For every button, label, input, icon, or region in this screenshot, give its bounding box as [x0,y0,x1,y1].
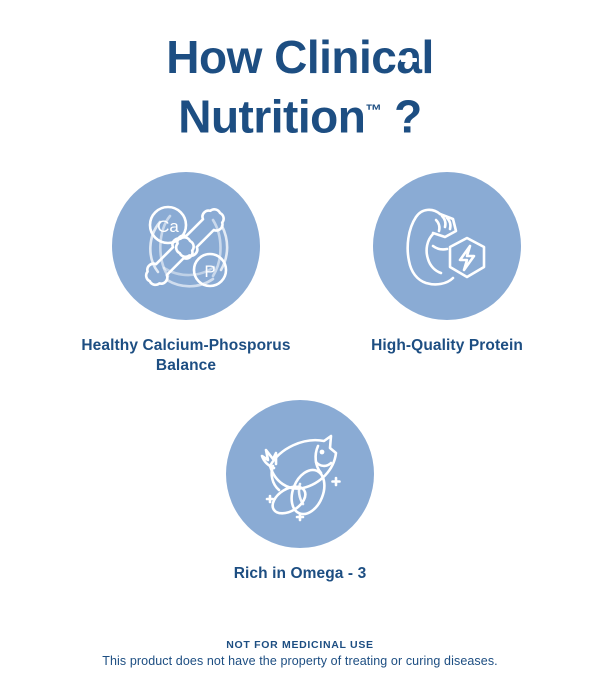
feature-label-calcium-phosphorus: Healthy Calcium-Phosporus Balance [56,336,316,376]
title-line-2: Nutrition™ ? [0,84,600,143]
footer-disclaimer: NOT FOR MEDICINAL USE This product does … [0,638,600,670]
title-line-1-text-after-cross: l [421,31,433,83]
title-line-2-text: Nutrition [178,90,365,142]
svg-text:Ca: Ca [157,217,179,236]
page-title: How Clinical Nutrition™ ? [0,30,600,143]
title-question-mark: ? [382,90,422,142]
fish-omega-capsule-icon [226,400,374,548]
footer-disclaimer-title: NOT FOR MEDICINAL USE [0,638,600,652]
medical-cross-letter-glyph: a [396,31,421,83]
trademark-symbol: ™ [365,101,382,120]
svg-text:P: P [204,262,215,281]
title-line-1-text-before-cross: How Clinic [166,31,396,83]
feature-label-rich-in-omega-3: Rich in Omega - 3 [170,564,430,584]
feature-high-quality-protein: High-Quality Protein [317,172,577,356]
clinical-nutrition-infographic: How Clinical Nutrition™ ? Ca [0,0,600,700]
medical-cross-letter: a [396,30,421,84]
feature-label-high-quality-protein: High-Quality Protein [317,336,577,356]
feature-rich-in-omega-3: Rich in Omega - 3 [170,400,430,584]
feature-calcium-phosphorus: Ca P Healthy Calcium-Phosporus Balance [56,172,316,376]
flexed-bicep-energy-icon [373,172,521,320]
calcium-phosphorus-bones-icon: Ca P [112,172,260,320]
footer-disclaimer-note: This product does not have the property … [0,652,600,670]
title-line-1: How Clinical [0,30,600,84]
